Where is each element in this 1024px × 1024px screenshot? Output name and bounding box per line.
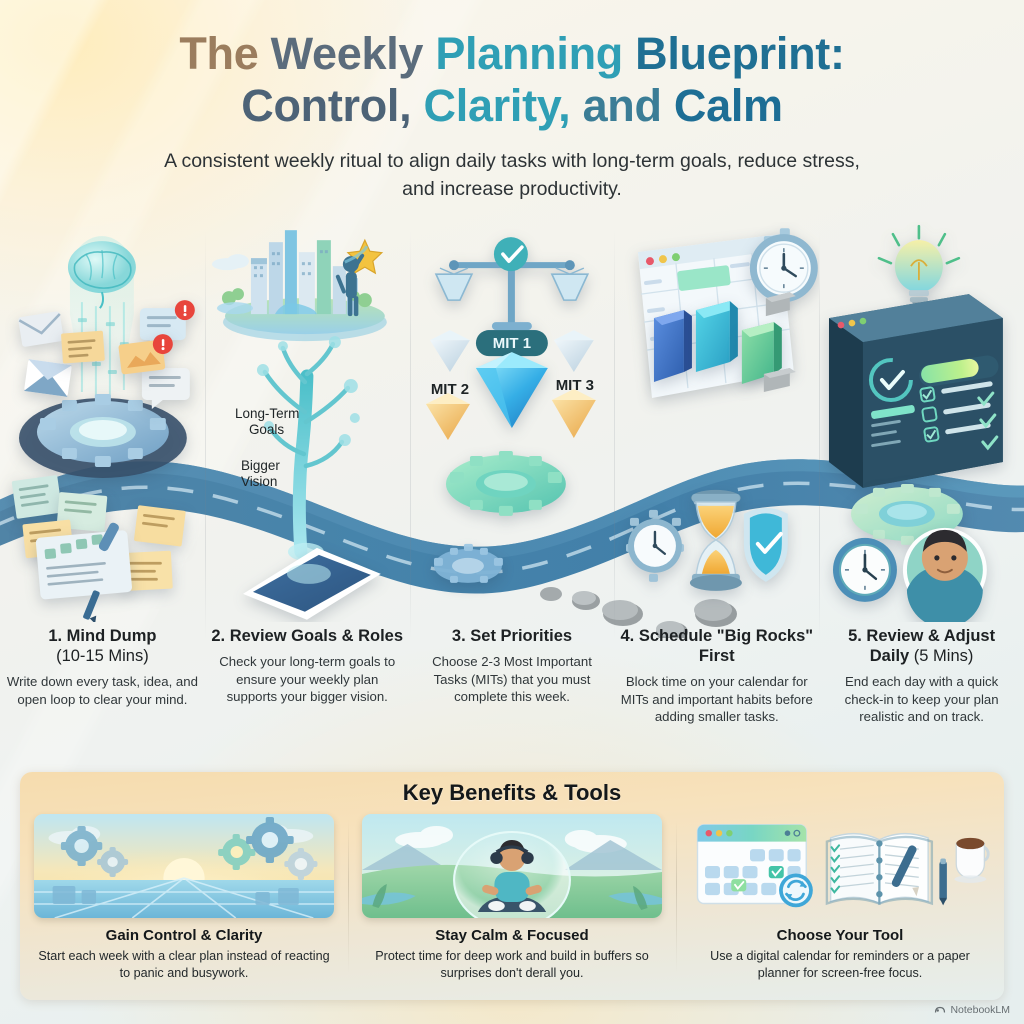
step-3-caption: 3. Set Priorities Choose 2-3 Most Import… <box>416 626 609 706</box>
step-4-illustration <box>614 222 819 622</box>
chat-bubble-icon-2 <box>142 368 190 409</box>
sunrise-road-gears-illustration <box>34 814 334 918</box>
calendar-notebook-coffee-illustration <box>690 814 990 918</box>
step-3-body: Choose 2-3 Most Important Tasks (MITs) t… <box>416 653 609 706</box>
title-word-control: Control, <box>241 80 423 131</box>
step-4-body: Block time on your calendar for MITs and… <box>620 673 813 726</box>
label-long-term-goals-line1: Long-Term <box>235 406 299 421</box>
shield-check-icon <box>744 508 788 582</box>
step-5-body: End each day with a quick check-in to ke… <box>825 673 1018 726</box>
avatar-icon <box>903 528 987 622</box>
watermark-label: NotebookLM <box>950 1004 1010 1016</box>
step-1[interactable]: 1. Mind Dump(10-15 Mins) Write down ever… <box>0 222 205 762</box>
step-4[interactable]: 4. Schedule "Big Rocks" First Block time… <box>614 222 819 762</box>
envelope-open-icon <box>24 359 72 397</box>
benefit-2-body: Protect time for deep work and build in … <box>362 948 662 981</box>
benefit-1-body: Start each week with a clear plan instea… <box>34 948 334 981</box>
diamond-mit-1-icon <box>476 352 548 428</box>
dashboard-window-icon <box>829 294 1003 488</box>
step-5-illustration <box>819 222 1024 622</box>
title-word-weekly: Weekly <box>271 28 436 79</box>
benefit-3-body: Use a digital calendar for reminders or … <box>690 948 990 981</box>
step-1-illustration <box>0 222 205 622</box>
label-bigger-vision-line2: Vision <box>241 474 277 489</box>
step-3-title: 3. Set Priorities <box>416 626 609 646</box>
step-5-title: 5. Review & AdjustDaily (5 Mins) <box>825 626 1018 666</box>
gear-icon <box>19 394 187 478</box>
benefit-3-title: Choose Your Tool <box>690 927 990 944</box>
title-word-clarity: Clarity, <box>424 80 583 131</box>
diamond-gold-right-icon <box>551 389 595 438</box>
step-4-caption: 4. Schedule "Big Rocks" First Block time… <box>620 626 813 726</box>
step-5[interactable]: 5. Review & AdjustDaily (5 Mins) End eac… <box>819 222 1024 762</box>
benefit-3[interactable]: Choose Your Tool Use a digital calendar … <box>676 814 1004 992</box>
sticky-note-yellow-icon-2 <box>134 505 186 547</box>
label-long-term-goals-line2: Goals <box>249 422 284 437</box>
step-3-illustration: MIT 1 MIT 2 <box>410 222 615 622</box>
step-1-duration: (10-15 Mins) <box>56 647 149 665</box>
title-word-and: and <box>583 80 674 131</box>
lightbulb-icon <box>879 226 959 306</box>
title-word-the: The <box>179 28 270 79</box>
title-word-planning: Planning <box>435 28 635 79</box>
tablet-icon <box>243 548 381 620</box>
pen-icon-2 <box>939 859 947 906</box>
step-2[interactable]: Long-Term Goals Bigger Vision 2. Review … <box>205 222 410 762</box>
page-title: The Weekly Planning Blueprint: Control, … <box>0 28 1024 132</box>
benefit-2-title: Stay Calm & Focused <box>362 927 662 944</box>
svg-text:MIT 1: MIT 1 <box>492 335 530 352</box>
label-mit-2: MIT 2 <box>430 381 468 398</box>
panel-heading: Key Benefits & Tools <box>20 772 1004 806</box>
key-benefits-panel: Key Benefits & Tools <box>20 772 1004 1000</box>
step-5-caption: 5. Review & AdjustDaily (5 Mins) End eac… <box>825 626 1018 726</box>
checked-day-2 <box>731 879 746 891</box>
benefit-2[interactable]: Stay Calm & Focused Protect time for dee… <box>348 814 676 992</box>
sticky-note-teal-icon <box>12 475 63 519</box>
clock-gear-small-icon <box>626 510 684 582</box>
steps-strip: 1. Mind Dump(10-15 Mins) Write down ever… <box>0 222 1024 762</box>
title-word-blueprint: Blueprint: <box>635 28 844 79</box>
balance-scale-icon <box>436 237 588 338</box>
diamond-silver-left-icon <box>430 330 470 372</box>
step-3[interactable]: MIT 1 MIT 2 <box>410 222 615 762</box>
tree-icon <box>257 336 360 561</box>
label-mit-3: MIT 3 <box>555 377 593 394</box>
step-2-illustration: Long-Term Goals Bigger Vision <box>205 222 410 622</box>
watermark: NotebookLM <box>934 1004 1010 1016</box>
sticky-note-icon <box>61 331 105 364</box>
header: The Weekly Planning Blueprint: Control, … <box>0 0 1024 204</box>
step-2-title: 2. Review Goals & Roles <box>211 626 404 646</box>
envelope-icon <box>18 311 64 347</box>
step-1-body: Write down every task, idea, and open lo… <box>6 673 199 708</box>
green-gear-icon <box>446 451 566 516</box>
step-2-caption: 2. Review Goals & Roles Check your long-… <box>211 626 404 706</box>
clock-icon <box>833 538 897 602</box>
check-badge-icon <box>494 237 528 271</box>
diamond-gold-left-icon <box>426 393 470 440</box>
label-bigger-vision-line1: Bigger <box>241 458 280 473</box>
blue-gear-small-icon <box>434 544 503 583</box>
infographic-root: The Weekly Planning Blueprint: Control, … <box>0 0 1024 1024</box>
step-2-body: Check your long-term goals to ensure you… <box>211 653 404 706</box>
meditating-person-bubble-illustration <box>362 814 662 918</box>
title-word-calm: Calm <box>674 80 783 131</box>
hourglass-icon <box>690 490 742 591</box>
benefit-1[interactable]: Gain Control & Clarity Start each week w… <box>20 814 348 992</box>
checked-day <box>769 866 784 878</box>
step-1-title: 1. Mind Dump(10-15 Mins) <box>6 626 199 666</box>
step-1-caption: 1. Mind Dump(10-15 Mins) Write down ever… <box>6 626 199 708</box>
benefits-row: Gain Control & Clarity Start each week w… <box>20 814 1004 992</box>
page-subtitle: A consistent weekly ritual to align dail… <box>162 148 862 203</box>
notebooklm-logo-icon <box>934 1004 946 1016</box>
sync-icon <box>779 874 813 908</box>
coffee-cup-icon <box>954 838 988 883</box>
step-4-title: 4. Schedule "Big Rocks" First <box>620 626 813 666</box>
diamond-silver-right-icon <box>553 330 593 372</box>
step-5-duration: (5 Mins) <box>914 647 974 665</box>
benefit-1-title: Gain Control & Clarity <box>34 927 334 944</box>
